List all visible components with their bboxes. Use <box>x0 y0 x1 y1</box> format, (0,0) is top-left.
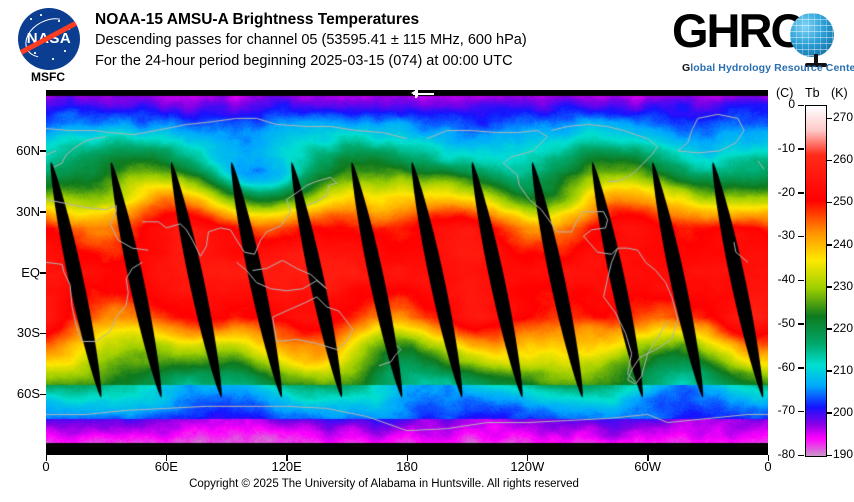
longitude-label: 0 <box>748 459 788 474</box>
colorbar-kelvin-header: (K) <box>831 86 848 100</box>
colorbar-celsius-label: -80 <box>765 447 795 461</box>
figure-subtitle-period: For the 24-hour period beginning 2025-03… <box>95 51 527 72</box>
colorbar-celsius-label: -60 <box>765 360 795 374</box>
ghrc-wordmark: GHRC <box>672 6 802 56</box>
colorbar-celsius-label: -20 <box>765 185 795 199</box>
colorbar-kelvin-tick <box>826 244 832 246</box>
pointer-arrow-marker <box>411 88 435 100</box>
latitude-tick <box>40 333 46 335</box>
colorbar-celsius-tick <box>798 148 804 150</box>
colorbar-kelvin-tick <box>826 160 832 162</box>
colorbar-kelvin-label: 230 <box>833 279 853 293</box>
map-raster <box>46 90 768 455</box>
latitude-tick <box>40 211 46 213</box>
colorbar-celsius-tick <box>798 280 804 282</box>
longitude-label: 0 <box>26 459 66 474</box>
longitude-label: 60W <box>628 459 668 474</box>
colorbar-celsius-label: -10 <box>765 141 795 155</box>
ghrc-logo: GHRC Global Hydrology Resource Center <box>672 6 840 82</box>
colorbar-kelvin-tick <box>826 412 832 414</box>
colorbar-kelvin-label: 190 <box>833 447 853 461</box>
colorbar-celsius-tick <box>798 192 804 194</box>
latitude-tick <box>40 272 46 274</box>
colorbar-kelvin-label: 260 <box>833 152 853 166</box>
latitude-label: 60N <box>0 143 40 158</box>
colorbar-celsius-label: -70 <box>765 403 795 417</box>
colorbar-kelvin-label: 250 <box>833 194 853 208</box>
colorbar-celsius-tick <box>798 236 804 238</box>
colorbar-kelvin-tick <box>826 370 832 372</box>
longitude-label: 120W <box>507 459 547 474</box>
longitude-label: 180 <box>387 459 427 474</box>
colorbar-kelvin-tick <box>826 118 832 120</box>
nasa-logo: NASA MSFC <box>8 6 88 86</box>
colorbar-kelvin-tick <box>826 455 832 457</box>
figure-subtitle-channel: Descending passes for channel 05 (53595.… <box>95 30 527 51</box>
latitude-label: 60S <box>0 386 40 401</box>
colorbar-kelvin-tick <box>826 328 832 330</box>
colorbar-celsius-label: -50 <box>765 316 795 330</box>
colorbar-kelvin-label: 240 <box>833 237 853 251</box>
colorbar-kelvin-label: 210 <box>833 363 853 377</box>
latitude-tick <box>40 394 46 396</box>
colorbar-celsius-tick <box>798 411 804 413</box>
latitude-label: 30S <box>0 325 40 340</box>
colorbar-kelvin-label: 220 <box>833 321 853 335</box>
noaa-amsu-brightness-temperature-figure: NASA MSFC NOAA-15 AMSU-A Brightness Temp… <box>0 0 854 502</box>
brightness-temperature-map[interactable] <box>46 90 768 455</box>
ghrc-tagline: Global Hydrology Resource Center <box>682 62 854 74</box>
colorbar-celsius-tick <box>798 367 804 369</box>
colorbar-gradient <box>805 105 827 457</box>
colorbar-celsius-label: -30 <box>765 228 795 242</box>
nasa-meatball-icon: NASA <box>18 8 80 70</box>
colorbar-celsius-tick <box>798 455 804 457</box>
longitude-label: 120E <box>267 459 307 474</box>
latitude-label: EQ <box>0 265 40 280</box>
colorbar-celsius-label: 0 <box>765 97 795 111</box>
colorbar-kelvin-tick <box>826 286 832 288</box>
figure-title: NOAA-15 AMSU-A Brightness Temperatures <box>95 9 527 30</box>
colorbar-kelvin-label: 270 <box>833 110 853 124</box>
colorbar-kelvin-label: 200 <box>833 405 853 419</box>
colorbar-celsius-tick <box>798 323 804 325</box>
copyright-notice: Copyright © 2025 The University of Alaba… <box>0 478 768 490</box>
nasa-center-label: MSFC <box>8 70 88 84</box>
colorbar-kelvin-tick <box>826 202 832 204</box>
colorbar-quantity-header: Tb <box>805 86 820 100</box>
latitude-label: 30N <box>0 204 40 219</box>
figure-titles: NOAA-15 AMSU-A Brightness Temperatures D… <box>95 9 527 72</box>
longitude-label: 60E <box>146 459 186 474</box>
colorbar-celsius-tick <box>798 105 804 107</box>
latitude-tick <box>40 150 46 152</box>
colorbar-celsius-label: -40 <box>765 272 795 286</box>
globe-icon <box>790 13 834 57</box>
